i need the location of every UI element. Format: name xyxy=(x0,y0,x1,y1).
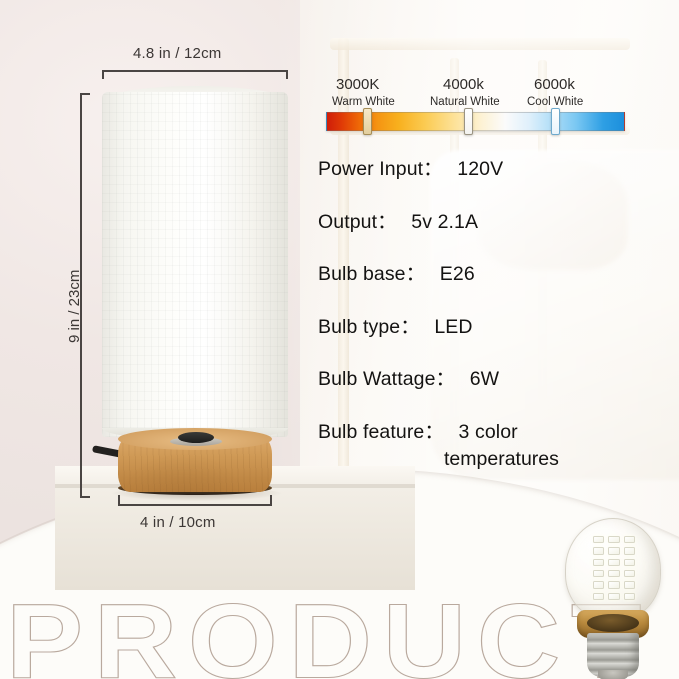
led-bulb-image xyxy=(551,518,675,679)
dimension-tick-base-left xyxy=(118,495,120,505)
led-chip xyxy=(608,547,619,554)
lamp-shade xyxy=(102,92,288,437)
dimension-label-base-width: 4 in / 10cm xyxy=(140,514,216,531)
bulb-collar-interior xyxy=(587,614,639,632)
kelvin-slider-4000k[interactable] xyxy=(464,108,473,135)
specifications-list: Power Input： 120V Output： 5v 2.1A Bulb b… xyxy=(318,152,668,471)
product-infographic: 4.8 in / 12cm 9 in / 23cm 4 in / 10cm 30… xyxy=(0,0,679,679)
led-chip-array xyxy=(590,533,638,603)
led-chip xyxy=(608,581,619,588)
led-chip xyxy=(608,559,619,566)
led-chip xyxy=(593,559,604,566)
spec-value-power-input: 120V xyxy=(457,158,503,180)
led-chip xyxy=(593,547,604,554)
spec-value-bulb-base: E26 xyxy=(440,263,475,285)
led-chip xyxy=(608,570,619,577)
dimension-label-lamp-height: 9 in / 23cm xyxy=(66,270,83,343)
spec-row-bulb-base: Bulb base： E26 xyxy=(318,257,668,286)
spec-row-bulb-wattage: Bulb Wattage： 6W xyxy=(318,362,668,391)
led-chip xyxy=(624,581,635,588)
spec-row-bulb-type: Bulb type： LED xyxy=(318,310,668,339)
bulb-glass-globe xyxy=(565,518,661,621)
spec-key-power-input: Power Input： xyxy=(318,158,443,180)
kelvin-slider-3000k[interactable] xyxy=(363,108,372,135)
dimension-tick-base-right xyxy=(270,495,272,505)
spec-value-bulb-feature: 3 color xyxy=(459,421,518,443)
dimension-tick-side-top xyxy=(80,93,90,95)
led-chip xyxy=(593,536,604,543)
spec-row-bulb-feature: Bulb feature： 3 color xyxy=(318,415,668,444)
spec-key-output: Output： xyxy=(318,211,397,233)
spec-value-bulb-feature-continuation: temperatures xyxy=(318,448,668,471)
kelvin-slider-6000k[interactable] xyxy=(551,108,560,135)
led-chip xyxy=(624,547,635,554)
led-chip xyxy=(593,593,604,600)
spec-value-bulb-wattage: 6W xyxy=(470,368,499,390)
spec-row-power-input: Power Input： 120V xyxy=(318,152,668,181)
kelvin-name-natural-white: Natural White xyxy=(430,96,500,108)
dimension-tick-top-left xyxy=(102,70,104,79)
dimension-label-shade-width: 4.8 in / 12cm xyxy=(133,45,221,62)
kelvin-label-6000k: 6000k xyxy=(534,76,575,93)
led-chip xyxy=(624,593,635,600)
led-chip xyxy=(624,570,635,577)
led-chip xyxy=(608,536,619,543)
lamp-neck xyxy=(178,432,214,443)
kelvin-label-3000k: 3000K xyxy=(336,76,379,93)
spec-key-bulb-type: Bulb type： xyxy=(318,316,420,338)
spec-key-bulb-feature: Bulb feature： xyxy=(318,421,444,443)
spec-value-bulb-type: LED xyxy=(434,316,472,338)
spec-key-bulb-base: Bulb base： xyxy=(318,263,425,285)
spec-row-output: Output： 5v 2.1A xyxy=(318,205,668,234)
spec-value-output: 5v 2.1A xyxy=(411,211,478,233)
dimension-line-top xyxy=(102,70,288,72)
dimension-line-base xyxy=(118,504,272,506)
led-chip xyxy=(608,593,619,600)
kelvin-name-cool-white: Cool White xyxy=(527,96,583,108)
bulb-contact-tip xyxy=(598,670,628,679)
kelvin-name-warm-white: Warm White xyxy=(332,96,395,108)
dimension-tick-side-bottom xyxy=(80,496,90,498)
kelvin-label-4000k: 4000k xyxy=(443,76,484,93)
led-chip xyxy=(593,570,604,577)
linen-texture xyxy=(102,92,288,437)
led-chip xyxy=(624,559,635,566)
dimension-tick-top-right xyxy=(286,70,288,79)
led-chip xyxy=(624,536,635,543)
led-chip xyxy=(593,581,604,588)
spec-key-bulb-wattage: Bulb Wattage： xyxy=(318,368,455,390)
